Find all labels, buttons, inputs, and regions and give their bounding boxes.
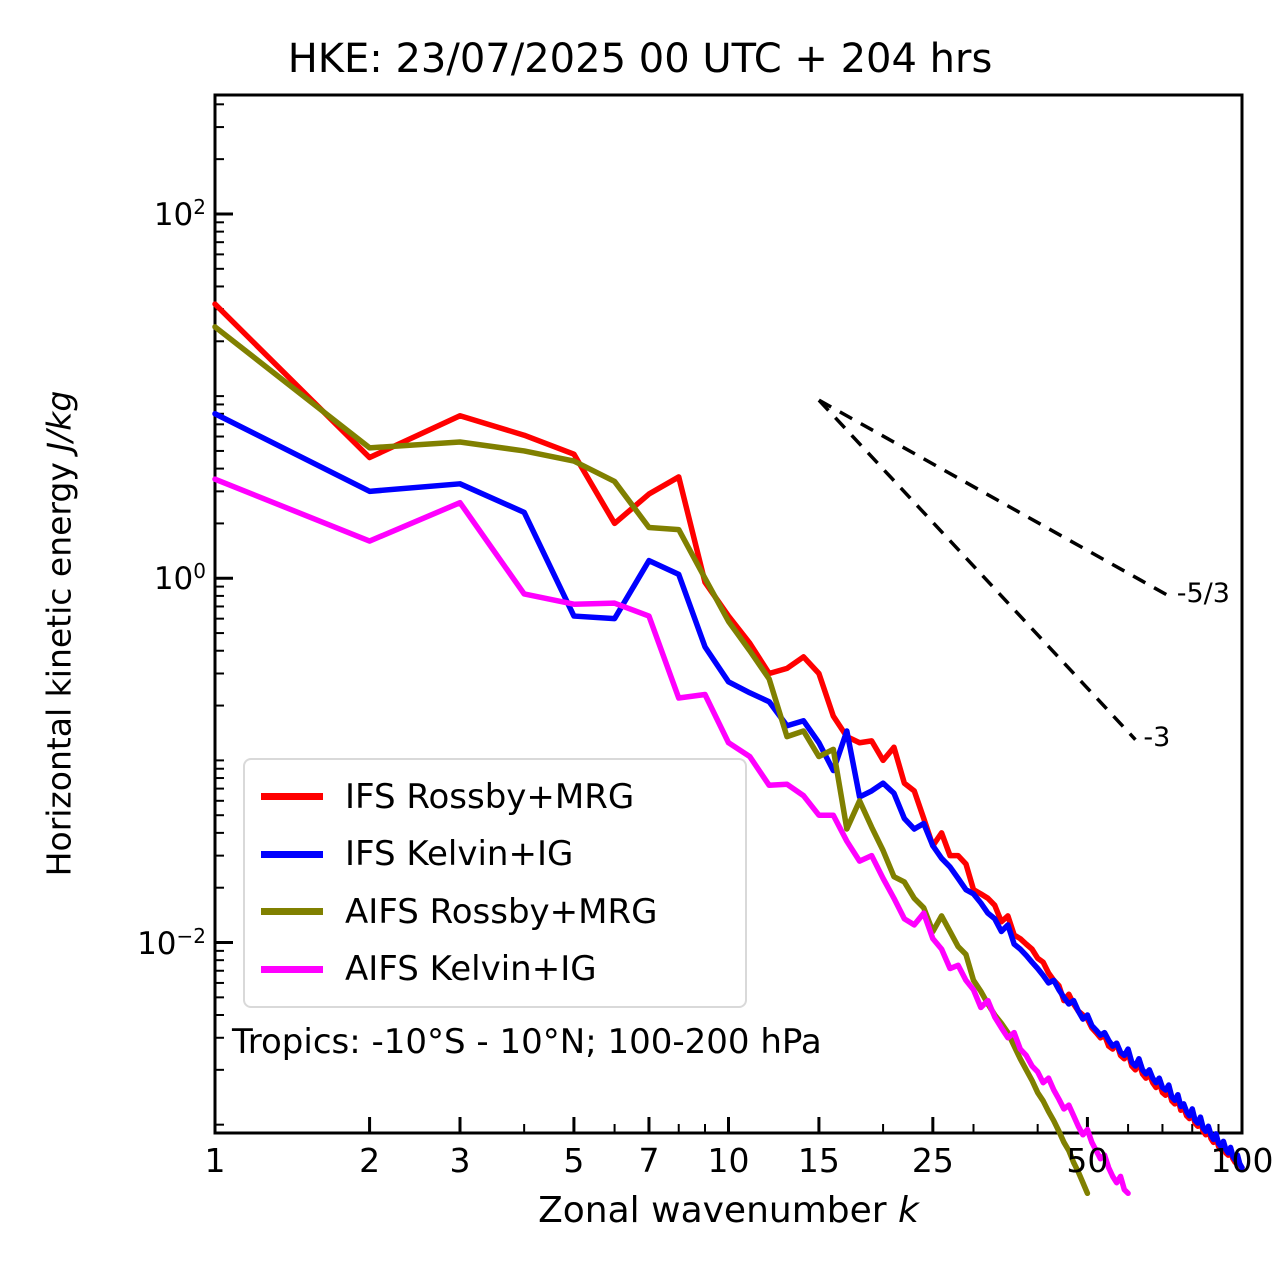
legend-item-3[interactable]: AIFS Kelvin+IG [261, 943, 747, 995]
x-tick-label: 100 [1211, 1141, 1274, 1180]
slope-label: -3 [1143, 722, 1170, 753]
x-tick-label: 2 [359, 1141, 380, 1180]
page-title: HKE: 23/07/2025 00 UTC + 204 hrs [0, 36, 1280, 82]
legend: IFS Rossby+MRGIFS Kelvin+IGAIFS Rossby+M… [243, 758, 747, 1008]
plot-area [0, 0, 1280, 1288]
y-axis-label-unit: J/kg [40, 391, 79, 452]
legend-color-swatch [261, 793, 323, 800]
legend-item-2[interactable]: AIFS Rossby+MRG [261, 886, 747, 938]
legend-item-label: AIFS Rossby+MRG [345, 895, 657, 929]
legend-item-0[interactable]: IFS Rossby+MRG [261, 771, 747, 823]
x-tick-label: 3 [450, 1141, 471, 1180]
x-axis-label-symbol: k [898, 1190, 919, 1231]
y-tick-label: 100 [118, 559, 206, 597]
x-tick-label: 15 [798, 1141, 840, 1180]
legend-item-label: AIFS Kelvin+IG [345, 952, 597, 986]
x-tick-label: 25 [912, 1141, 954, 1180]
y-tick-label: 10−2 [118, 923, 206, 961]
slope-label: -5/3 [1177, 578, 1230, 609]
x-tick-label: 1 [205, 1141, 226, 1180]
x-axis-label: Zonal wavenumber k [215, 1190, 1242, 1231]
y-tick-label: 102 [118, 195, 206, 233]
y-axis-label-prefix: Horizontal kinetic energy [40, 452, 79, 877]
figure-root: HKE: 23/07/2025 00 UTC + 204 hrs Horizon… [0, 0, 1280, 1288]
legend-item-label: IFS Kelvin+IG [345, 837, 573, 871]
legend-color-swatch [261, 851, 323, 858]
x-tick-label: 10 [708, 1141, 750, 1180]
y-axis-label: Horizontal kinetic energy J/kg [40, 264, 79, 1004]
legend-item-label: IFS Rossby+MRG [345, 780, 634, 814]
x-axis-label-prefix: Zonal wavenumber [538, 1190, 898, 1231]
region-annotation: Tropics: -10°S - 10°N; 100-200 hPa [232, 1022, 822, 1062]
x-tick-label: 7 [638, 1141, 659, 1180]
x-tick-label: 50 [1066, 1141, 1108, 1180]
legend-item-1[interactable]: IFS Kelvin+IG [261, 828, 747, 880]
x-tick-label: 5 [563, 1141, 584, 1180]
legend-color-swatch [261, 966, 323, 973]
legend-color-swatch [261, 908, 323, 915]
